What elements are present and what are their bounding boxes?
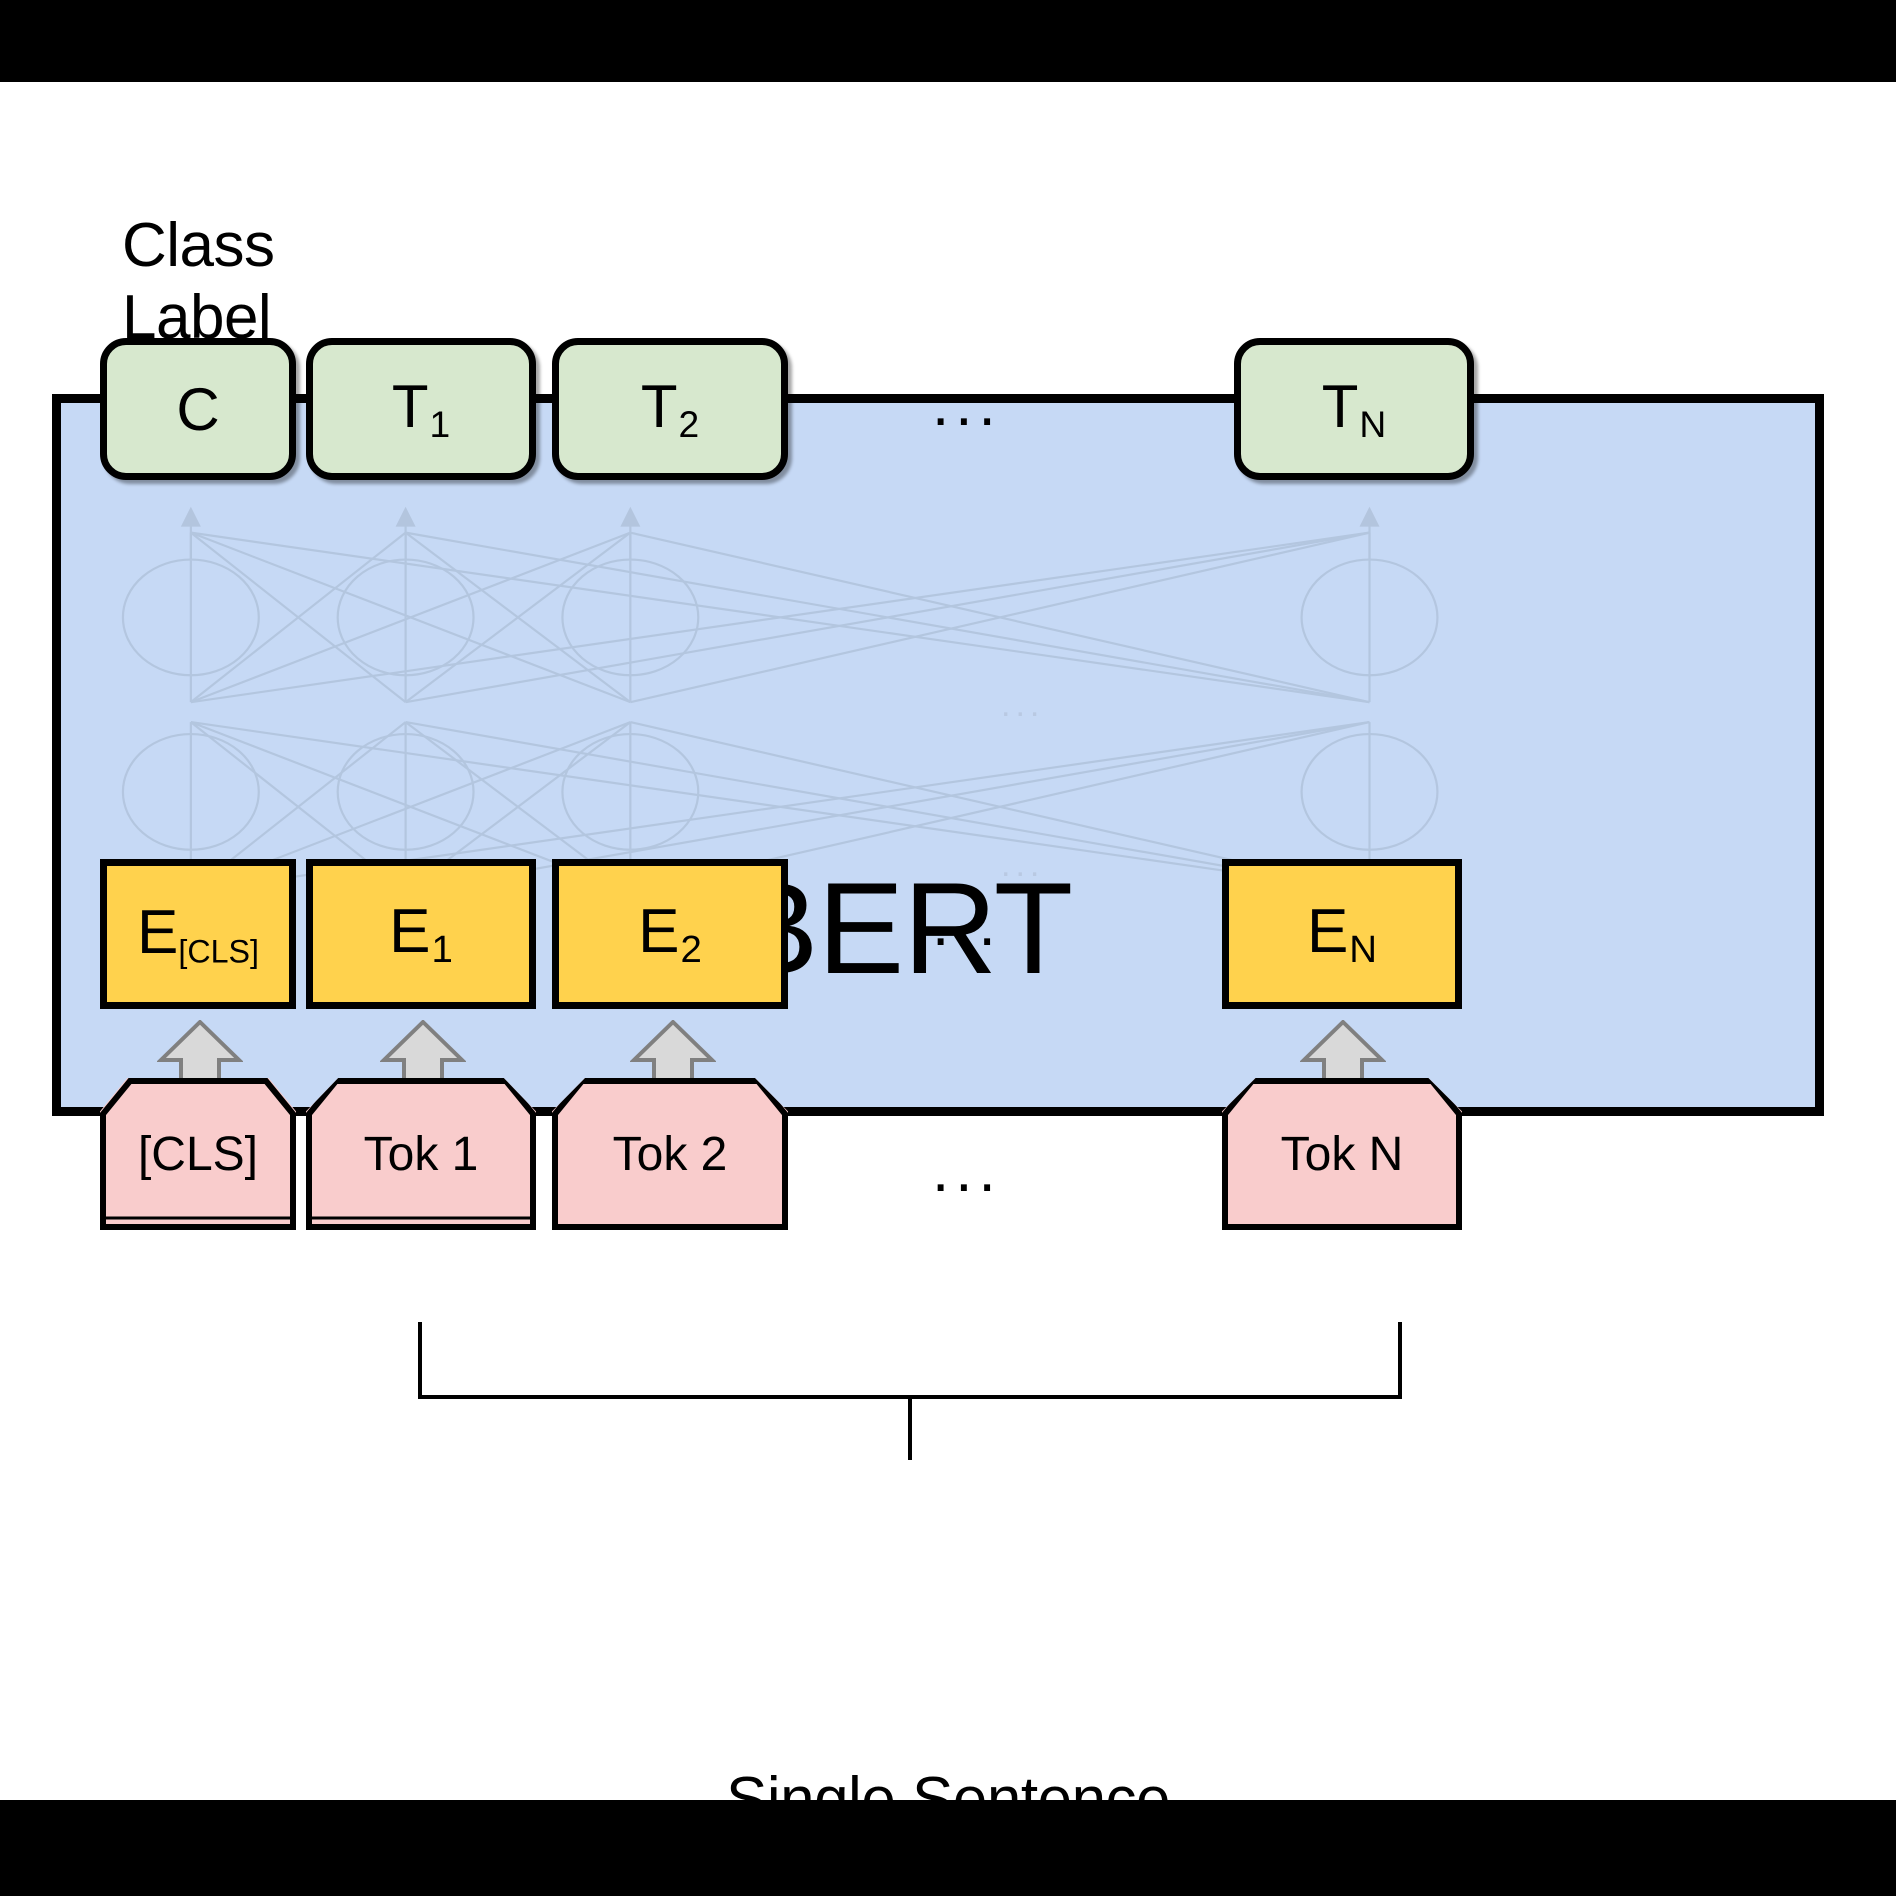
output-box-t1[interactable]: T1 <box>306 338 536 480</box>
sentence-bracket <box>380 1322 1480 1462</box>
token-box-tok1-label: Tok 1 <box>364 1127 479 1182</box>
embedding-box-en[interactable]: EN <box>1222 859 1462 1009</box>
embedding-box-e1[interactable]: E1 <box>306 859 536 1009</box>
output-row-ellipsis: ... <box>932 374 1002 436</box>
token-box-tok2[interactable]: Tok 2 <box>552 1078 788 1230</box>
output-box-c-label: C <box>176 375 219 444</box>
output-box-tn[interactable]: TN <box>1234 338 1474 480</box>
embedding-box-cls[interactable]: E[CLS] <box>100 859 296 1009</box>
diagram-canvas: Class Label <box>0 0 1896 1896</box>
embedding-box-e1-label: E1 <box>389 896 453 973</box>
embedding-box-e2-label: E2 <box>638 896 702 973</box>
token-box-tok1[interactable]: Tok 1 <box>306 1078 536 1230</box>
embedding-box-e2[interactable]: E2 <box>552 859 788 1009</box>
embedding-row-ellipsis: ... <box>932 894 1002 956</box>
token-box-tok2-label: Tok 2 <box>613 1127 728 1182</box>
inner-ellipsis-top: ... <box>1001 688 1044 722</box>
embedding-box-cls-label: E[CLS] <box>137 897 259 971</box>
output-box-t2[interactable]: T2 <box>552 338 788 480</box>
token-box-tokn[interactable]: Tok N <box>1222 1078 1462 1230</box>
output-box-t1-label: T1 <box>392 372 450 446</box>
diagram-page: Class Label <box>0 82 1896 1800</box>
class-label-text: Class Label <box>122 210 452 354</box>
embedding-box-en-label: EN <box>1307 896 1377 973</box>
token-box-cls-label: [CLS] <box>138 1127 258 1182</box>
output-box-c[interactable]: C <box>100 338 296 480</box>
token-row-ellipsis: ... <box>932 1140 1002 1202</box>
output-box-t2-label: T2 <box>641 372 699 446</box>
token-box-cls[interactable]: [CLS] <box>100 1078 296 1230</box>
token-box-tokn-label: Tok N <box>1281 1127 1404 1182</box>
sentence-caption: Single Sentence <box>0 1764 1896 1835</box>
output-box-tn-label: TN <box>1322 372 1387 446</box>
